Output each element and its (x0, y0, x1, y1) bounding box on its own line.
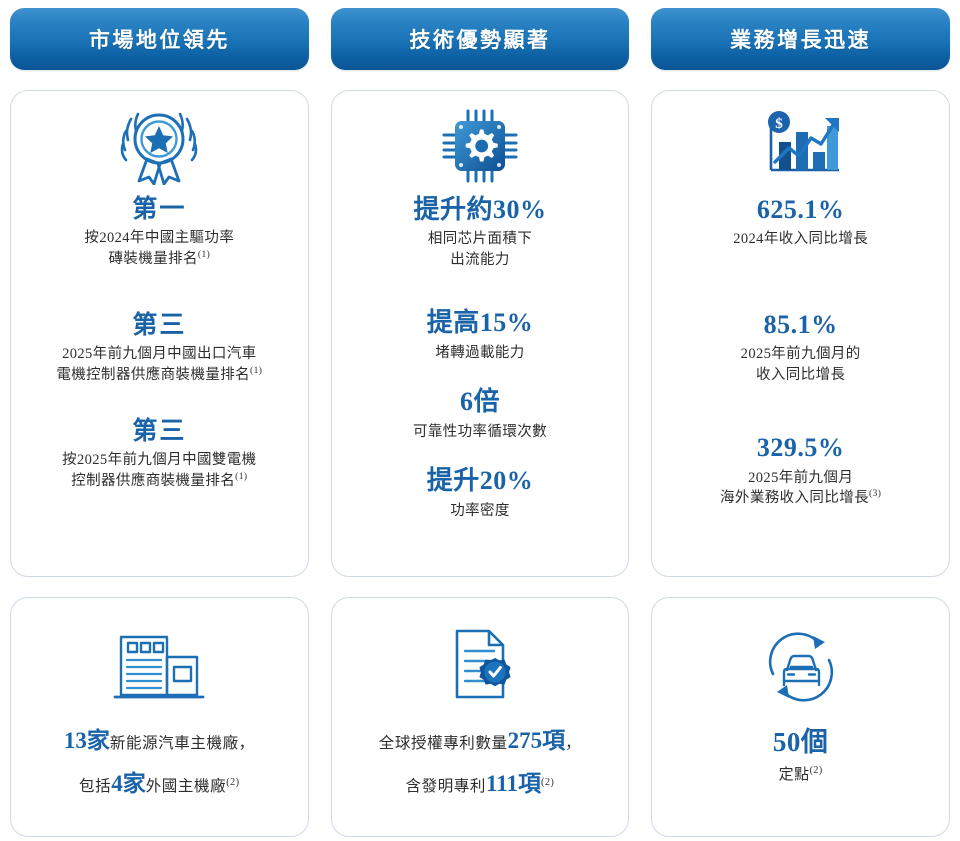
stat-item: 提高15% 堵轉過載能力 (346, 306, 615, 363)
card-technology-advantage[interactable]: 提升約30% 相同芯片面積下出流能力 提高15% 堵轉過載能力 6倍 可靠性功率… (331, 90, 630, 577)
stat-label-text: 2025年前九個月中國出口汽車電機控制器供應商裝機量排名 (56, 346, 256, 383)
stat-item: 第一 按2024年中國主驅功率磚裝機量排名(1) (25, 193, 294, 269)
stat-label-text: 堵轉過載能力 (435, 345, 524, 361)
customers-foreign-count: 4家 (111, 771, 146, 796)
patents-total-count: 275項 (508, 728, 566, 753)
stat-label: 2024年收入同比增長 (666, 229, 935, 250)
stat-item: 第三 2025年前九個月中國出口汽車電機控制器供應商裝機量排名(1) (25, 309, 294, 385)
customers-count: 13家 (64, 728, 110, 753)
stat-item: 85.1% 2025年前九個月的收入同比增長 (666, 308, 935, 385)
growth-chart-icon: $ (755, 107, 847, 185)
stat-label-text: 2024年收入同比增長 (733, 231, 868, 247)
patents-invention-prefix: 含發明專利 (406, 778, 487, 795)
stat-label-text: 可靠性功率循環次數 (413, 424, 547, 440)
stat-value: 329.5% (666, 431, 935, 465)
stat-value: 提高15% (346, 306, 615, 340)
patents-line-2: 含發明專利111項(2) (406, 763, 555, 806)
customers-line-1: 13家新能源汽車主機廠， (64, 720, 255, 763)
patents-footnote: (2) (541, 776, 554, 787)
card-business-growth[interactable]: $ 625.1% 2024年收入同比增長 85.1% 2025年前九個月的收入同… (651, 90, 950, 577)
infographic-board: 市場地位領先 技術優勢顯著 業務增長迅速 (0, 0, 960, 841)
stat-item: 625.1% 2024年收入同比增長 (666, 193, 935, 250)
stat-label: 堵轉過載能力 (346, 343, 615, 364)
design-wins-count: 50個 (773, 720, 829, 759)
card-patents[interactable]: 全球授權專利數量275項， 含發明專利111項(2) (331, 597, 630, 837)
stat-label: 可靠性功率循環次數 (346, 422, 615, 443)
stat-label: 2025年前九個月的收入同比增長 (666, 344, 935, 385)
stat-label-text: 相同芯片面積下出流能力 (428, 231, 532, 268)
stat-label-text: 按2025年前九個月中國雙電機控制器供應商裝機量排名 (62, 452, 257, 489)
stat-value: 6倍 (346, 385, 615, 419)
patents-invention-count: 111項 (486, 771, 541, 796)
design-wins-label: 定點(2) (779, 763, 823, 784)
stat-label: 2025年前九個月中國出口汽車電機控制器供應商裝機量排名(1) (25, 344, 294, 385)
card-market-position[interactable]: 第一 按2024年中國主驅功率磚裝機量排名(1) 第三 2025年前九個月中國出… (10, 90, 309, 577)
banner-market-position[interactable]: 市場地位領先 (10, 8, 309, 70)
stat-label-text: 按2024年中國主驅功率磚裝機量排名 (84, 230, 234, 267)
stat-label-text: 2025年前九個月的收入同比增長 (741, 346, 861, 383)
customers-footnote: (2) (226, 776, 239, 787)
stat-value: 第一 (25, 193, 294, 226)
card-customers[interactable]: 13家新能源汽車主機廠， 包括4家外國主機廠(2) (10, 597, 309, 837)
patents-prefix: 全球授權專利數量 (379, 735, 508, 752)
stat-item: 第三 按2025年前九個月中國雙電機控制器供應商裝機量排名(1) (25, 415, 294, 491)
top-card-row: 第一 按2024年中國主驅功率磚裝機量排名(1) 第三 2025年前九個月中國出… (10, 90, 950, 577)
car-cycle-icon (755, 624, 847, 710)
stat-value: 第三 (25, 415, 294, 448)
stat-label: 2025年前九個月海外業務收入同比增長(3) (666, 468, 935, 509)
stat-value: 625.1% (666, 193, 935, 227)
banner-row: 市場地位領先 技術優勢顯著 業務增長迅速 (10, 8, 950, 70)
banner-business-growth[interactable]: 業務增長迅速 (651, 8, 950, 70)
stat-footnote: (3) (869, 489, 881, 499)
stat-footnote: (1) (235, 472, 247, 482)
stat-item: 提升約30% 相同芯片面積下出流能力 (346, 193, 615, 270)
stat-list: 第一 按2024年中國主驅功率磚裝機量排名(1) 第三 2025年前九個月中國出… (25, 187, 294, 566)
stat-item: 329.5% 2025年前九個月海外業務收入同比增長(3) (666, 431, 935, 508)
customers-desc: 新能源汽車主機廠， (110, 735, 255, 752)
stat-label-text: 2025年前九個月海外業務收入同比增長 (720, 470, 869, 507)
banner-label: 業務增長迅速 (730, 24, 871, 54)
stat-footnote: (1) (250, 366, 262, 376)
stat-value: 第三 (25, 309, 294, 342)
banner-label: 技術優勢顯著 (410, 24, 551, 54)
stat-label-text: 功率密度 (450, 503, 510, 519)
stat-label: 按2024年中國主驅功率磚裝機量排名(1) (25, 228, 294, 269)
stat-label: 相同芯片面積下出流能力 (346, 229, 615, 270)
customers-foreign-desc: 外國主機廠 (146, 778, 227, 795)
stat-footnote: (1) (198, 250, 210, 260)
stat-label: 功率密度 (346, 501, 615, 522)
award-ribbon-icon (113, 107, 205, 185)
bottom-card-row: 13家新能源汽車主機廠， 包括4家外國主機廠(2) (10, 597, 950, 837)
customers-line-2: 包括4家外國主機廠(2) (79, 763, 240, 806)
banner-label: 市場地位領先 (89, 24, 230, 54)
stat-list: 提升約30% 相同芯片面積下出流能力 提高15% 堵轉過載能力 6倍 可靠性功率… (346, 187, 615, 566)
stat-value: 提升約30% (346, 193, 615, 227)
chip-gear-icon (437, 107, 523, 185)
stat-value: 85.1% (666, 308, 935, 342)
card-design-wins[interactable]: 50個 定點(2) (651, 597, 950, 837)
factory-building-icon (107, 624, 211, 710)
stat-value: 提升20% (346, 464, 615, 498)
patents-line-1: 全球授權專利數量275項， (379, 720, 581, 763)
stat-label: 按2025年前九個月中國雙電機控制器供應商裝機量排名(1) (25, 450, 294, 491)
design-wins-footnote: (2) (810, 765, 823, 776)
customers-include-prefix: 包括 (79, 778, 111, 795)
certified-document-icon (435, 624, 525, 710)
patents-comma: ， (565, 735, 581, 752)
stat-item: 提升20% 功率密度 (346, 464, 615, 521)
svg-text:$: $ (775, 116, 783, 132)
design-wins-label-text: 定點 (779, 767, 810, 783)
banner-technology-advantage[interactable]: 技術優勢顯著 (331, 8, 630, 70)
stat-list: 625.1% 2024年收入同比增長 85.1% 2025年前九個月的收入同比增… (666, 187, 935, 566)
stat-item: 6倍 可靠性功率循環次數 (346, 385, 615, 442)
